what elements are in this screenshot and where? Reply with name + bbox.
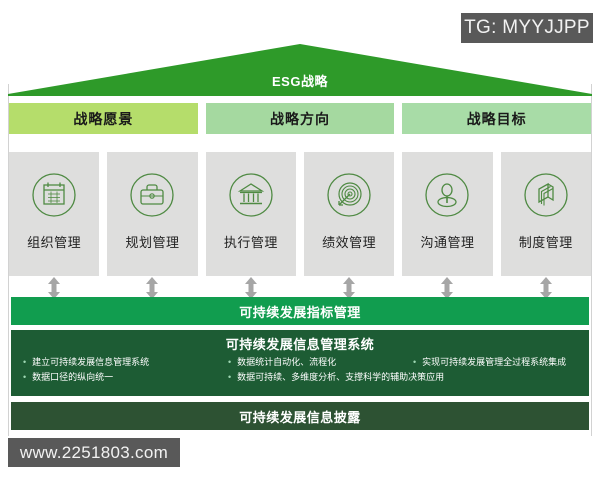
esg-strategy-diagram: TG: MYYJJPP ESG战略 战略愿景 战略方向 战略目标 [0, 0, 600, 480]
pillar-label-organization: 组织管理 [27, 232, 81, 251]
panel-indicator-label: 可持续发展指标管理 [239, 302, 361, 321]
pillar-card-row: 组织管理 规划管理 执行管理 [9, 152, 591, 276]
bullet-item: • 数据可持续、多维度分析、支撑科学的辅助决策应用 [220, 371, 405, 383]
pillar-card-policy[interactable]: 制度管理 [501, 152, 591, 276]
bullet-item: • 建立可持续发展信息管理系统 [15, 356, 220, 368]
strategy-bar-goal-label: 战略目标 [467, 109, 527, 129]
arrow-cell [501, 277, 591, 299]
strategy-bar-direction-label: 战略方向 [270, 109, 330, 129]
briefcase-icon [128, 171, 176, 219]
bullet-grid: • 建立可持续发展信息管理系统 • 数据口径的纵向统一 • 数据统计自动化、流程… [11, 356, 589, 383]
arrow-cell [107, 277, 197, 299]
bullet-text: 建立可持续发展信息管理系统 [32, 356, 149, 368]
panel-disclosure-label: 可持续发展信息披露 [239, 407, 361, 426]
bullet-dot-icon: • [413, 356, 416, 368]
panel-system-title: 可持续发展信息管理系统 [11, 334, 589, 353]
bullet-text: 数据统计自动化、流程化 [237, 356, 336, 368]
arrow-cell [402, 277, 492, 299]
panel-information-disclosure[interactable]: 可持续发展信息披露 [11, 402, 589, 430]
bullet-dot-icon: • [228, 371, 231, 383]
strategy-bar-goal[interactable]: 战略目标 [402, 103, 591, 134]
double-arrow-up-down-icon [539, 277, 553, 299]
arrow-row [9, 277, 591, 299]
roof-shape: ESG战略 [8, 44, 592, 96]
arrow-cell [304, 277, 394, 299]
bullet-item: • 数据统计自动化、流程化 [220, 356, 405, 368]
telegram-watermark: TG: MYYJJPP [461, 13, 593, 43]
strategy-bar-row: 战略愿景 战略方向 战略目标 [9, 103, 591, 134]
strategy-bar-vision[interactable]: 战略愿景 [9, 103, 198, 134]
panel-indicator-management[interactable]: 可持续发展指标管理 [11, 297, 589, 325]
roof-label: ESG战略 [8, 44, 592, 96]
strategy-bar-direction[interactable]: 战略方向 [206, 103, 395, 134]
target-icon [325, 171, 373, 219]
pillar-card-execution[interactable]: 执行管理 [206, 152, 296, 276]
bullet-text: 数据口径的纵向统一 [32, 371, 113, 383]
arrow-cell [206, 277, 296, 299]
double-arrow-up-down-icon [440, 277, 454, 299]
bullet-column-1: • 建立可持续发展信息管理系统 • 数据口径的纵向统一 [15, 356, 220, 383]
pillar-label-planning: 规划管理 [125, 232, 179, 251]
bullet-item: • 实现可持续发展管理全过程系统集成 [405, 356, 585, 368]
bullet-column-2: • 数据统计自动化、流程化 • 数据可持续、多维度分析、支撑科学的辅助决策应用 [220, 356, 405, 383]
pillar-label-execution: 执行管理 [224, 232, 278, 251]
panel-information-management-system[interactable]: 可持续发展信息管理系统 • 建立可持续发展信息管理系统 • 数据口径的纵向统一 … [11, 330, 589, 396]
pillar-label-performance: 绩效管理 [322, 232, 376, 251]
pillar-label-communication: 沟通管理 [420, 232, 474, 251]
books-icon [522, 171, 570, 219]
bullet-item: • 数据口径的纵向统一 [15, 371, 220, 383]
site-watermark: www.2251803.com [8, 438, 180, 467]
frame-right-divider [591, 84, 592, 436]
arrow-cell [9, 277, 99, 299]
double-arrow-up-down-icon [47, 277, 61, 299]
bank-icon [227, 171, 275, 219]
double-arrow-up-down-icon [145, 277, 159, 299]
double-arrow-up-down-icon [244, 277, 258, 299]
person-icon [423, 171, 471, 219]
bullet-text: 实现可持续发展管理全过程系统集成 [422, 356, 566, 368]
pillar-label-policy: 制度管理 [519, 232, 573, 251]
bullet-column-3: • 实现可持续发展管理全过程系统集成 [405, 356, 585, 383]
pillar-card-communication[interactable]: 沟通管理 [402, 152, 492, 276]
pillar-card-organization[interactable]: 组织管理 [9, 152, 99, 276]
bullet-dot-icon: • [23, 371, 26, 383]
pillar-card-performance[interactable]: 绩效管理 [304, 152, 394, 276]
double-arrow-up-down-icon [342, 277, 356, 299]
bullet-dot-icon: • [23, 356, 26, 368]
calendar-icon [30, 171, 78, 219]
bullet-dot-icon: • [228, 356, 231, 368]
strategy-bar-vision-label: 战略愿景 [73, 109, 133, 129]
pillar-card-planning[interactable]: 规划管理 [107, 152, 197, 276]
